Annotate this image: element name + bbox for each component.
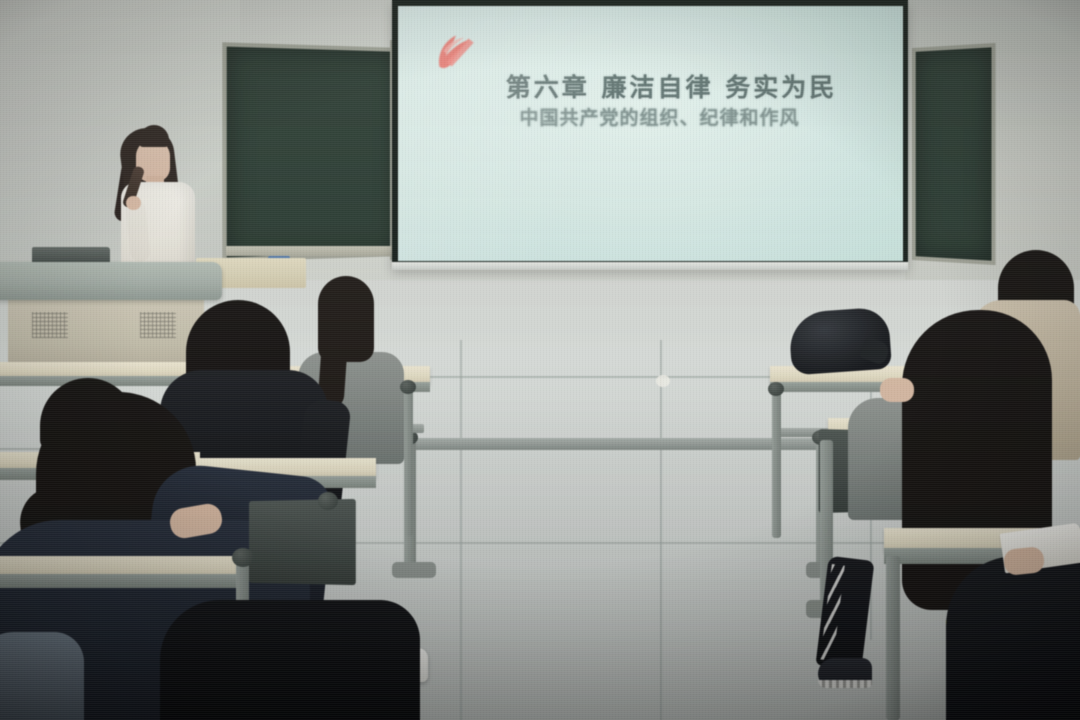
- desk-row3-right-knob: [768, 382, 784, 396]
- desk-row3-knob: [400, 380, 416, 394]
- lecturer-hand: [126, 196, 141, 210]
- desk-row1-left-knob: [232, 548, 254, 567]
- chalk-tray: [226, 246, 406, 256]
- blackboard-left: [222, 42, 404, 261]
- desk-row3-leg: [404, 386, 413, 536]
- lecturer-hair-top: [139, 125, 169, 147]
- aisle-rail: [404, 438, 828, 450]
- seat-row1-left: [249, 499, 356, 585]
- student-front-center-body: [160, 600, 420, 720]
- blackboard-right: [912, 43, 996, 265]
- podium-speaker-grille-left: [32, 312, 68, 338]
- seat-row1-left-knob: [318, 492, 338, 510]
- slide-subtitle: 中国共产党的组织、纪律和作风: [398, 103, 903, 130]
- desk-row1-left-front: [0, 574, 248, 588]
- desk-row1-right-leg: [886, 556, 900, 720]
- podium-speaker-grille-right: [140, 312, 176, 338]
- student-right-longhair-hand: [880, 378, 914, 402]
- screen-bottom-shadow: [392, 262, 908, 270]
- slide-title: 第六章 廉洁自律 务实为民: [398, 68, 903, 104]
- floor-object: [656, 375, 670, 387]
- student-right-foreground-body: [946, 556, 1080, 720]
- student-front-left-bag: [0, 632, 84, 720]
- classroom-photo: 第六章 廉洁自律 务实为民 中国共产党的组织、纪律和作风: [0, 0, 1080, 720]
- shoe-dark: [818, 658, 872, 688]
- slide-surface: 第六章 廉洁自律 务实为民 中国共产党的组织、纪律和作风: [398, 6, 903, 261]
- aisle-foot-left: [392, 562, 436, 578]
- podium-top: [0, 262, 222, 300]
- projection-screen: 第六章 廉洁自律 务实为民 中国共产党的组织、纪律和作风: [392, 0, 908, 268]
- desk-row3-right-leg: [772, 388, 781, 538]
